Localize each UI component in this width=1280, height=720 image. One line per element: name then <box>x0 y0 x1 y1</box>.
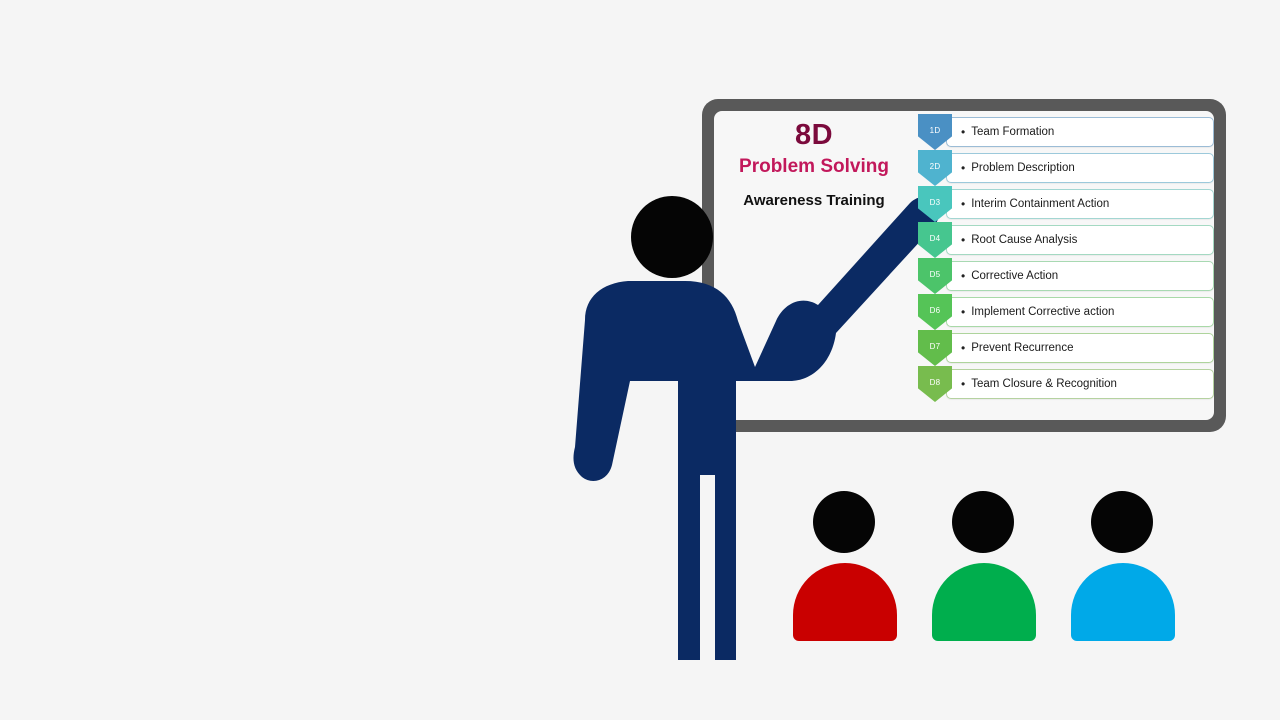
step-box[interactable]: •Team Formation <box>946 117 1214 147</box>
audience-member-2 <box>932 491 1036 641</box>
audience-member-1 <box>793 491 897 641</box>
presenter-head <box>631 196 713 278</box>
bullet-icon: • <box>961 126 965 138</box>
eight-d-steps-list: 1D•Team Formation2D•Problem DescriptionD… <box>918 117 1214 405</box>
step-code: D7 <box>930 342 941 355</box>
step-code: 2D <box>930 162 941 175</box>
step-label: Root Cause Analysis <box>971 234 1077 246</box>
step-box[interactable]: •Prevent Recurrence <box>946 333 1214 363</box>
step-row[interactable]: D8•Team Closure & Recognition <box>918 369 1214 399</box>
step-code: 1D <box>930 126 941 139</box>
step-box[interactable]: •Interim Containment Action <box>946 189 1214 219</box>
step-label: Interim Containment Action <box>971 198 1109 210</box>
audience-head <box>1091 491 1153 553</box>
step-code: D6 <box>930 306 941 319</box>
step-row[interactable]: D4•Root Cause Analysis <box>918 225 1214 255</box>
bullet-icon: • <box>961 198 965 210</box>
step-label: Team Closure & Recognition <box>971 378 1117 390</box>
step-row[interactable]: 2D•Problem Description <box>918 153 1214 183</box>
step-box[interactable]: •Corrective Action <box>946 261 1214 291</box>
bullet-icon: • <box>961 306 965 318</box>
bullet-icon: • <box>961 162 965 174</box>
step-label: Implement Corrective action <box>971 306 1114 318</box>
step-box[interactable]: •Team Closure & Recognition <box>946 369 1214 399</box>
step-row[interactable]: D7•Prevent Recurrence <box>918 333 1214 363</box>
step-row[interactable]: D6•Implement Corrective action <box>918 297 1214 327</box>
audience-body <box>932 563 1036 641</box>
step-row[interactable]: 1D•Team Formation <box>918 117 1214 147</box>
step-box[interactable]: •Problem Description <box>946 153 1214 183</box>
bullet-icon: • <box>961 378 965 390</box>
slide-canvas: 8D Problem Solving Awareness Training 1D… <box>0 0 1280 720</box>
audience-head <box>952 491 1014 553</box>
step-label: Prevent Recurrence <box>971 342 1073 354</box>
title-8d: 8D <box>714 118 914 152</box>
step-label: Corrective Action <box>971 270 1058 282</box>
audience-body <box>793 563 897 641</box>
bullet-icon: • <box>961 342 965 354</box>
step-label: Team Formation <box>971 126 1054 138</box>
step-row[interactable]: D5•Corrective Action <box>918 261 1214 291</box>
step-code: D3 <box>930 198 941 211</box>
bullet-icon: • <box>961 234 965 246</box>
step-box[interactable]: •Root Cause Analysis <box>946 225 1214 255</box>
step-row[interactable]: D3•Interim Containment Action <box>918 189 1214 219</box>
step-box[interactable]: •Implement Corrective action <box>946 297 1214 327</box>
bullet-icon: • <box>961 270 965 282</box>
audience-member-3 <box>1071 491 1175 641</box>
step-label: Problem Description <box>971 162 1075 174</box>
step-code: D8 <box>930 378 941 391</box>
audience-head <box>813 491 875 553</box>
title-problem-solving: Problem Solving <box>714 152 914 182</box>
step-code: D5 <box>930 270 941 283</box>
step-code: D4 <box>930 234 941 247</box>
audience-body <box>1071 563 1175 641</box>
